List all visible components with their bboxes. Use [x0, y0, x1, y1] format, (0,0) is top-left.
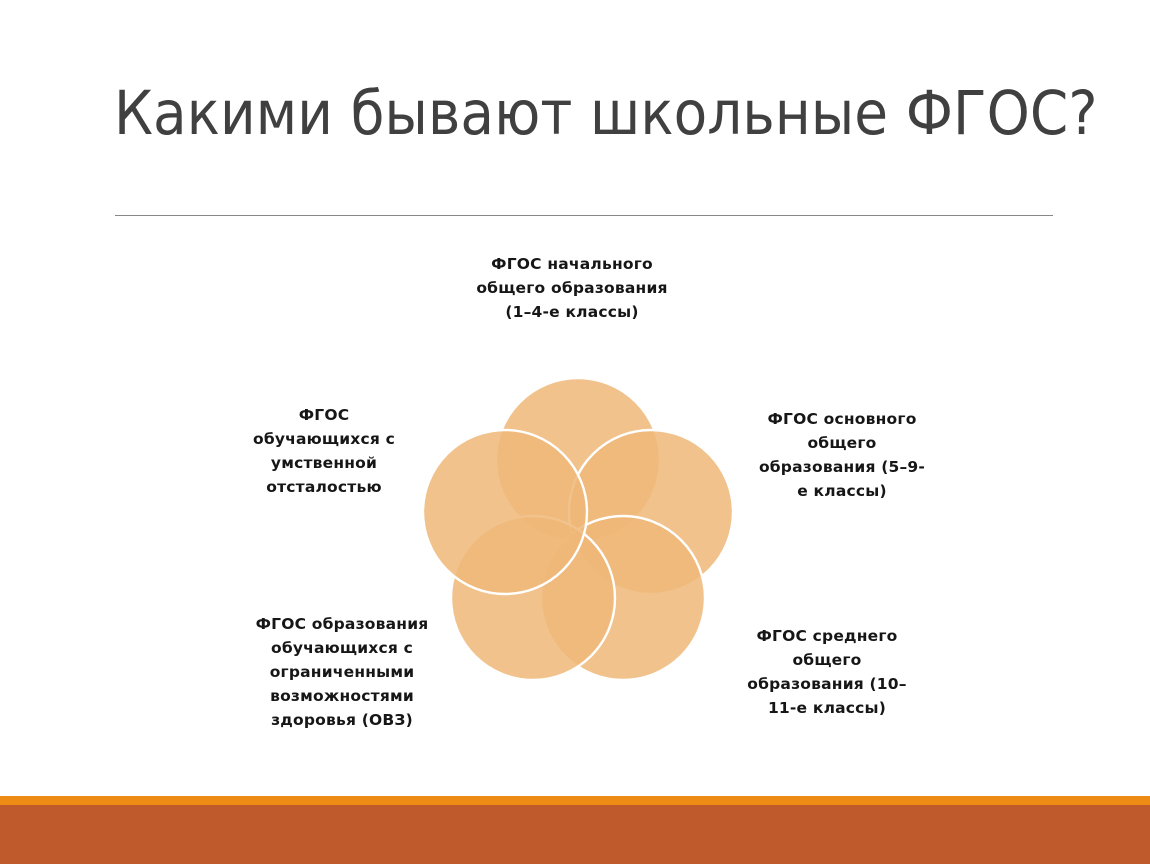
- venn-diagram: ФГОС начального общего образования (1–4-…: [0, 0, 1150, 790]
- venn-label-top: ФГОС начального общего образования (1–4-…: [440, 252, 704, 324]
- venn-circles-group: [420, 370, 740, 690]
- slide-canvas: Какими бывают школьные ФГОС? ФГОС началь…: [0, 0, 1150, 864]
- venn-label-left-bottom: ФГОС образования обучающихся с ограничен…: [232, 612, 452, 732]
- venn-label-right-bottom: ФГОС среднего общего образования (10– 11…: [713, 624, 941, 720]
- footer-accent-band-thick: [0, 805, 1150, 864]
- venn-label-left-top: ФГОС обучающихся с умственной отсталость…: [238, 403, 410, 499]
- footer-accent-band-thin: [0, 796, 1150, 805]
- venn-circle-left-top[interactable]: [423, 430, 587, 594]
- venn-label-right-top: ФГОС основного общего образования (5–9- …: [738, 407, 946, 503]
